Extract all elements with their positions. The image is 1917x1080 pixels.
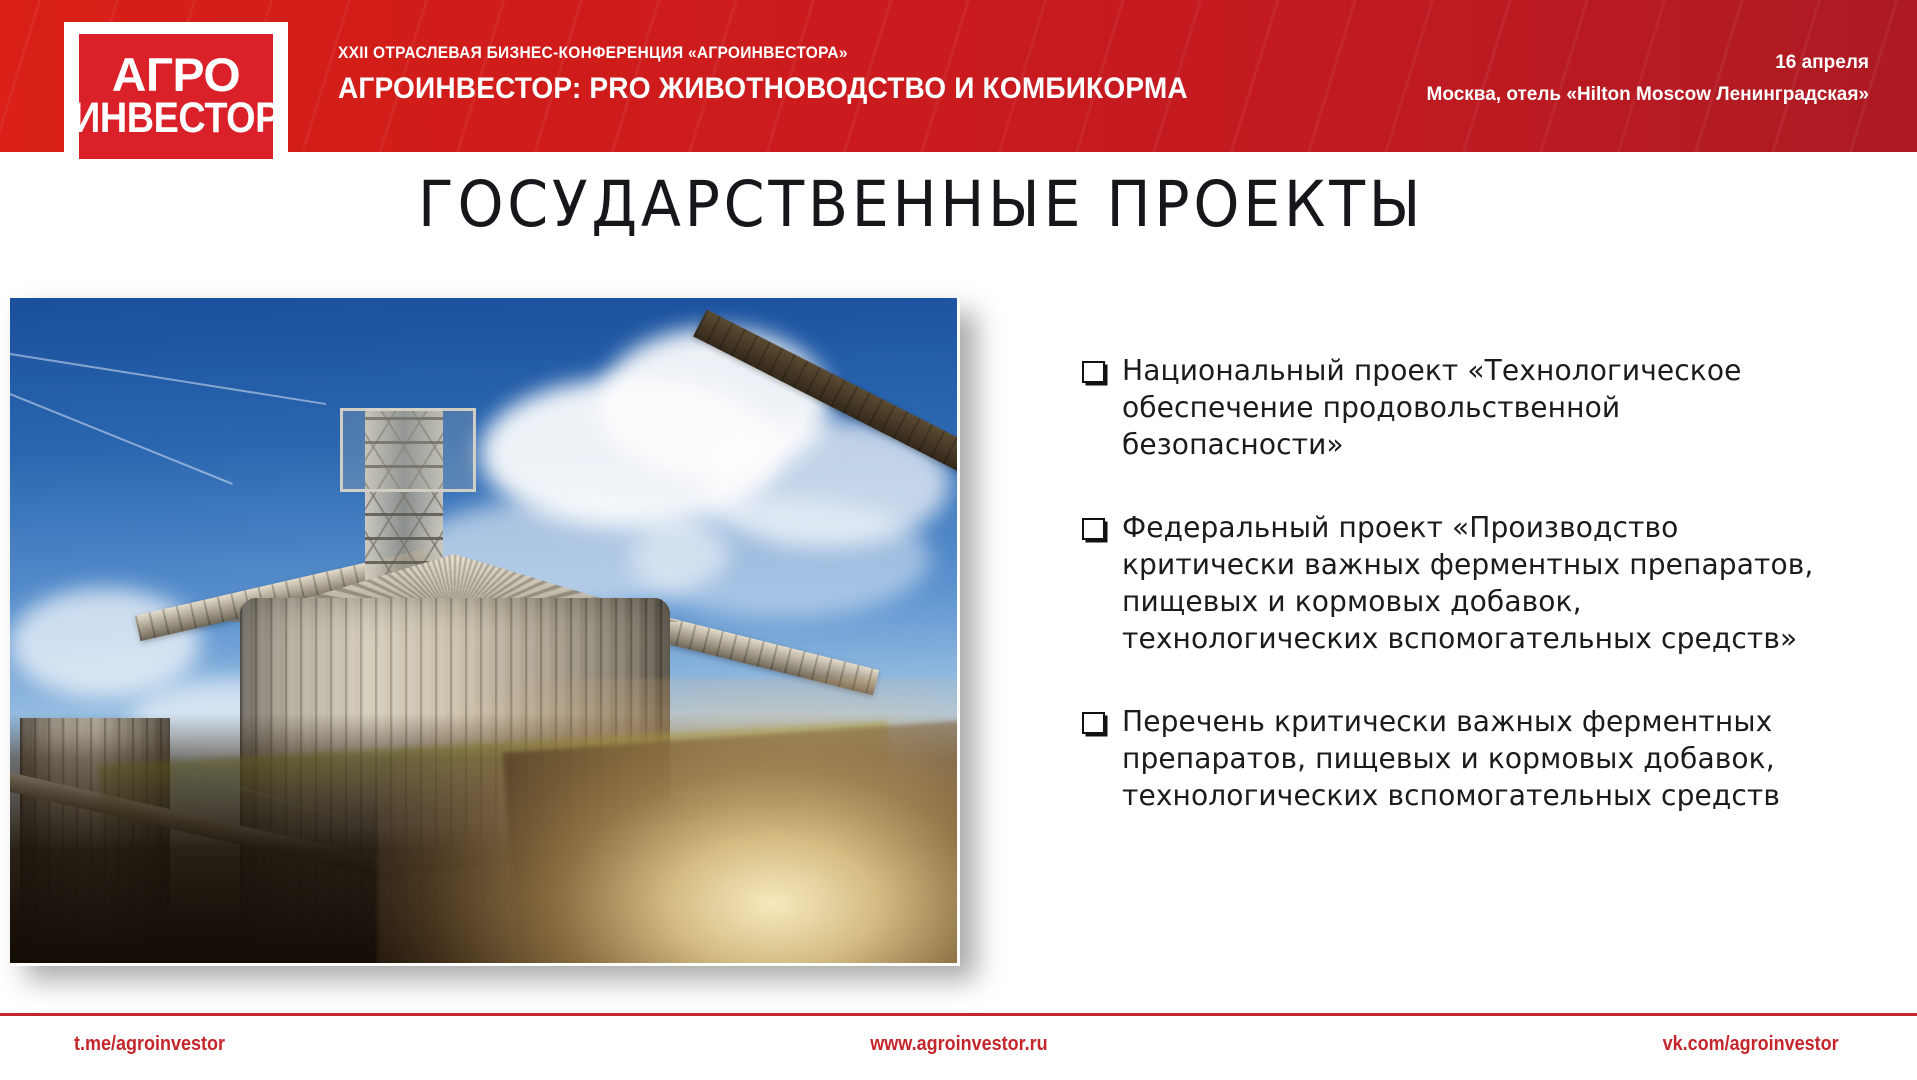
checkbox-bullet-icon <box>1082 518 1108 540</box>
conference-title: АГРОИНВЕСТОР: PRO ЖИВОТНОВОДСТВО И КОМБИ… <box>338 72 1188 106</box>
cloud <box>630 498 930 618</box>
sun-flare <box>377 678 957 963</box>
agroinvestor-logo: АГРО ИНВЕСТОР <box>64 22 288 170</box>
event-date: 16 апреля <box>1427 52 1869 74</box>
list-item-text: Федеральный проект «Производство критиче… <box>1122 509 1816 657</box>
cloud <box>10 588 200 698</box>
elevator-tower-platform <box>340 408 476 492</box>
bullet-list: Национальный проект «Технологическое обе… <box>1082 352 1827 860</box>
event-venue: Москва, отель «Hilton Moscow Ленинградск… <box>1427 84 1869 106</box>
presentation-slide: АГРО ИНВЕСТОР XXII ОТРАСЛЕВАЯ БИЗНЕС-КОН… <box>0 0 1917 1080</box>
vk-link[interactable]: vk.com/agroinvestor <box>1663 1033 1839 1056</box>
telegram-link[interactable]: t.me/agroinvestor <box>74 1033 225 1056</box>
list-item-text: Перечень критически важных ферментных пр… <box>1122 703 1816 814</box>
logo-line-1: АГРО <box>112 54 240 95</box>
list-item: Федеральный проект «Производство критиче… <box>1082 509 1827 657</box>
website-link[interactable]: www.agroinvestor.ru <box>870 1033 1047 1056</box>
logo-box: АГРО ИНВЕСТОР <box>79 34 273 159</box>
event-meta: 16 апреля Москва, отель «Hilton Moscow Л… <box>1427 52 1869 106</box>
list-item-text: Национальный проект «Технологическое обе… <box>1122 352 1816 463</box>
checkbox-bullet-icon <box>1082 361 1108 383</box>
page-title: ГОСУДАРСТВЕННЫЕ ПРОЕКТЫ <box>418 168 1424 241</box>
list-item: Перечень критически важных ферментных пр… <box>1082 703 1827 814</box>
checkbox-bullet-icon <box>1082 712 1108 734</box>
list-item: Национальный проект «Технологическое обе… <box>1082 352 1827 463</box>
conference-kicker: XXII ОТРАСЛЕВАЯ БИЗНЕС-КОНФЕРЕНЦИЯ «АГРО… <box>338 44 1179 63</box>
footer: t.me/agroinvestor www.agroinvestor.ru vk… <box>0 1016 1917 1080</box>
grain-elevator-photo <box>10 298 957 963</box>
conference-heading: XXII ОТРАСЛЕВАЯ БИЗНЕС-КОНФЕРЕНЦИЯ «АГРО… <box>338 44 1233 106</box>
logo-line-2: ИНВЕСТОР <box>73 100 280 138</box>
